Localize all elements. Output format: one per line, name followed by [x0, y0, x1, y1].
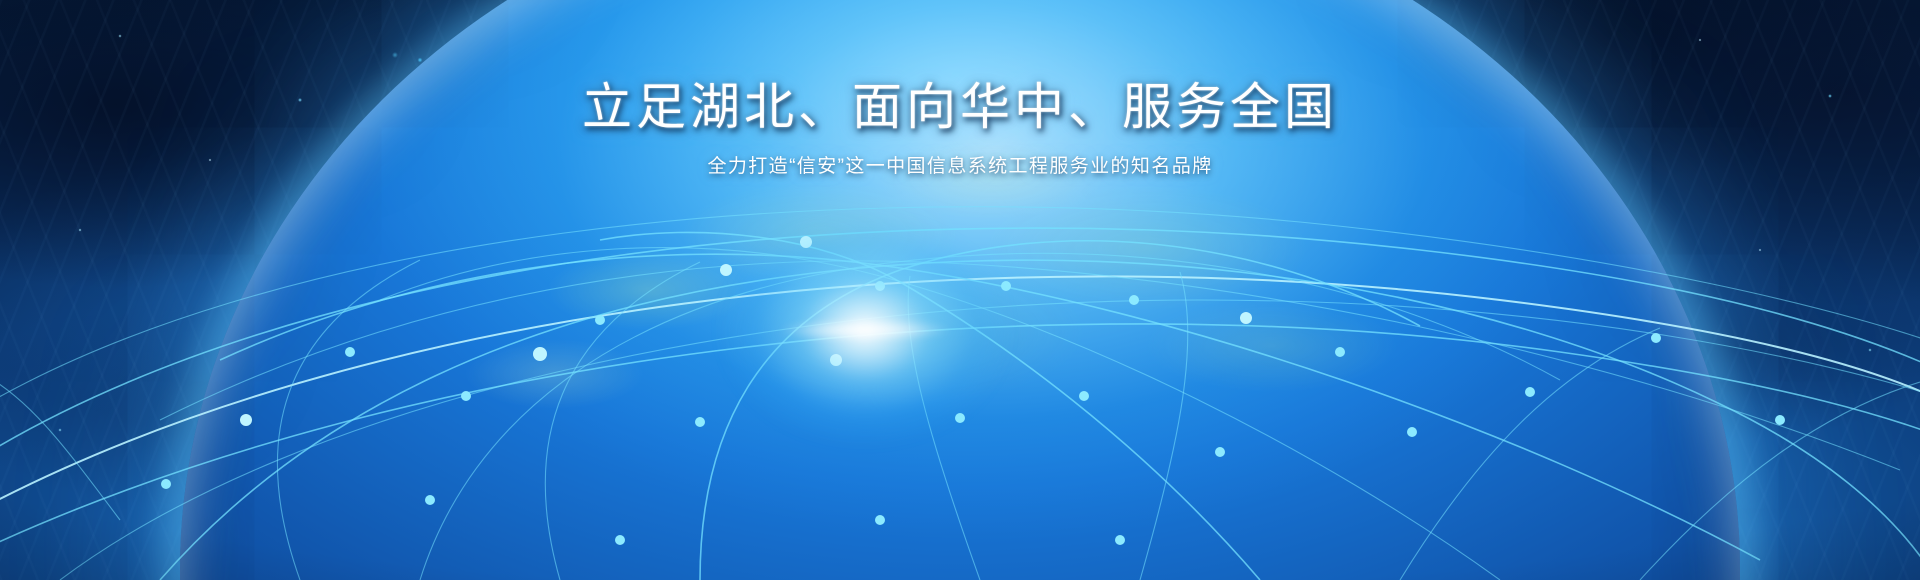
- banner-headline: 立足湖北、面向华中、服务全国: [0, 78, 1920, 137]
- banner-subheadline: 全力打造“信安”这一中国信息系统工程服务业的知名品牌: [0, 153, 1920, 182]
- hero-banner: 立足湖北、面向华中、服务全国 全力打造“信安”这一中国信息系统工程服务业的知名品…: [0, 0, 1920, 580]
- central-light-burst: [865, 330, 867, 332]
- banner-copy: 立足湖北、面向华中、服务全国 全力打造“信安”这一中国信息系统工程服务业的知名品…: [0, 78, 1920, 182]
